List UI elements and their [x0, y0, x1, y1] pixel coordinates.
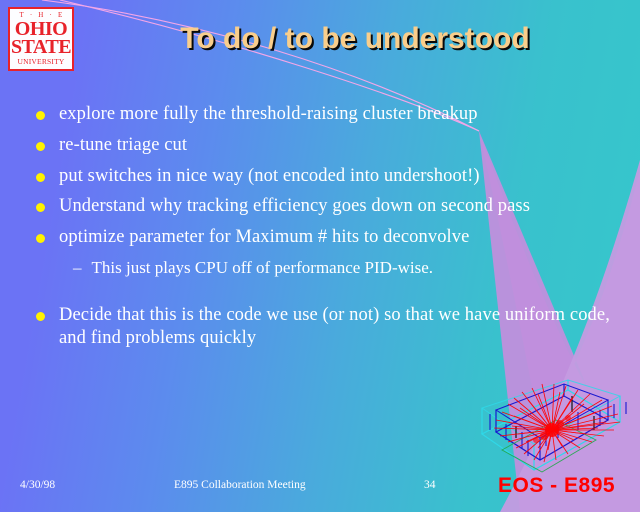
presentation-slide: T · H · E OHIO STATE UNIVERSITY To do / … — [0, 0, 640, 512]
bullet-disc-icon — [36, 142, 45, 151]
list-item-label: Understand why tracking efficiency goes … — [59, 195, 530, 218]
bullet-disc-icon — [36, 173, 45, 182]
bullet-disc-icon — [36, 203, 45, 212]
list-item-label: put switches in nice way (not encoded in… — [59, 165, 480, 188]
list-item: Understand why tracking efficiency goes … — [36, 195, 616, 218]
list-spacer — [36, 286, 616, 304]
bullet-dash-icon: – — [73, 257, 82, 278]
list-item: explore more fully the threshold-raising… — [36, 103, 616, 126]
figure-caption: EOS - E895 — [498, 474, 615, 498]
list-item: re-tune triage cut — [36, 134, 616, 157]
footer-page-number: 34 — [424, 479, 436, 491]
list-item: Decide that this is the code we use (or … — [36, 304, 616, 350]
bullet-disc-icon — [36, 234, 45, 243]
bullet-list: explore more fully the threshold-raising… — [36, 103, 616, 358]
footer-date: 4/30/98 — [20, 479, 55, 491]
list-item: optimize parameter for Maximum # hits to… — [36, 226, 616, 249]
list-item-label: re-tune triage cut — [59, 134, 187, 157]
list-item: put switches in nice way (not encoded in… — [36, 165, 616, 188]
logo-university-text: UNIVERSITY — [18, 58, 65, 66]
detector-event-display-image — [468, 378, 632, 482]
bullet-disc-icon — [36, 312, 45, 321]
list-item-label: explore more fully the threshold-raising… — [59, 103, 478, 126]
osu-logo: T · H · E OHIO STATE UNIVERSITY — [8, 7, 74, 71]
bullet-disc-icon — [36, 111, 45, 120]
list-item-label: Decide that this is the code we use (or … — [59, 304, 616, 350]
sub-list-item: – This just plays CPU off of performance… — [73, 257, 616, 278]
slide-title: To do / to be understood — [120, 22, 590, 56]
footer-meeting: E895 Collaboration Meeting — [174, 479, 306, 491]
logo-state-text: STATE — [11, 38, 71, 57]
list-item-label: optimize parameter for Maximum # hits to… — [59, 226, 469, 249]
sub-list-item-label: This just plays CPU off of performance P… — [92, 257, 434, 278]
